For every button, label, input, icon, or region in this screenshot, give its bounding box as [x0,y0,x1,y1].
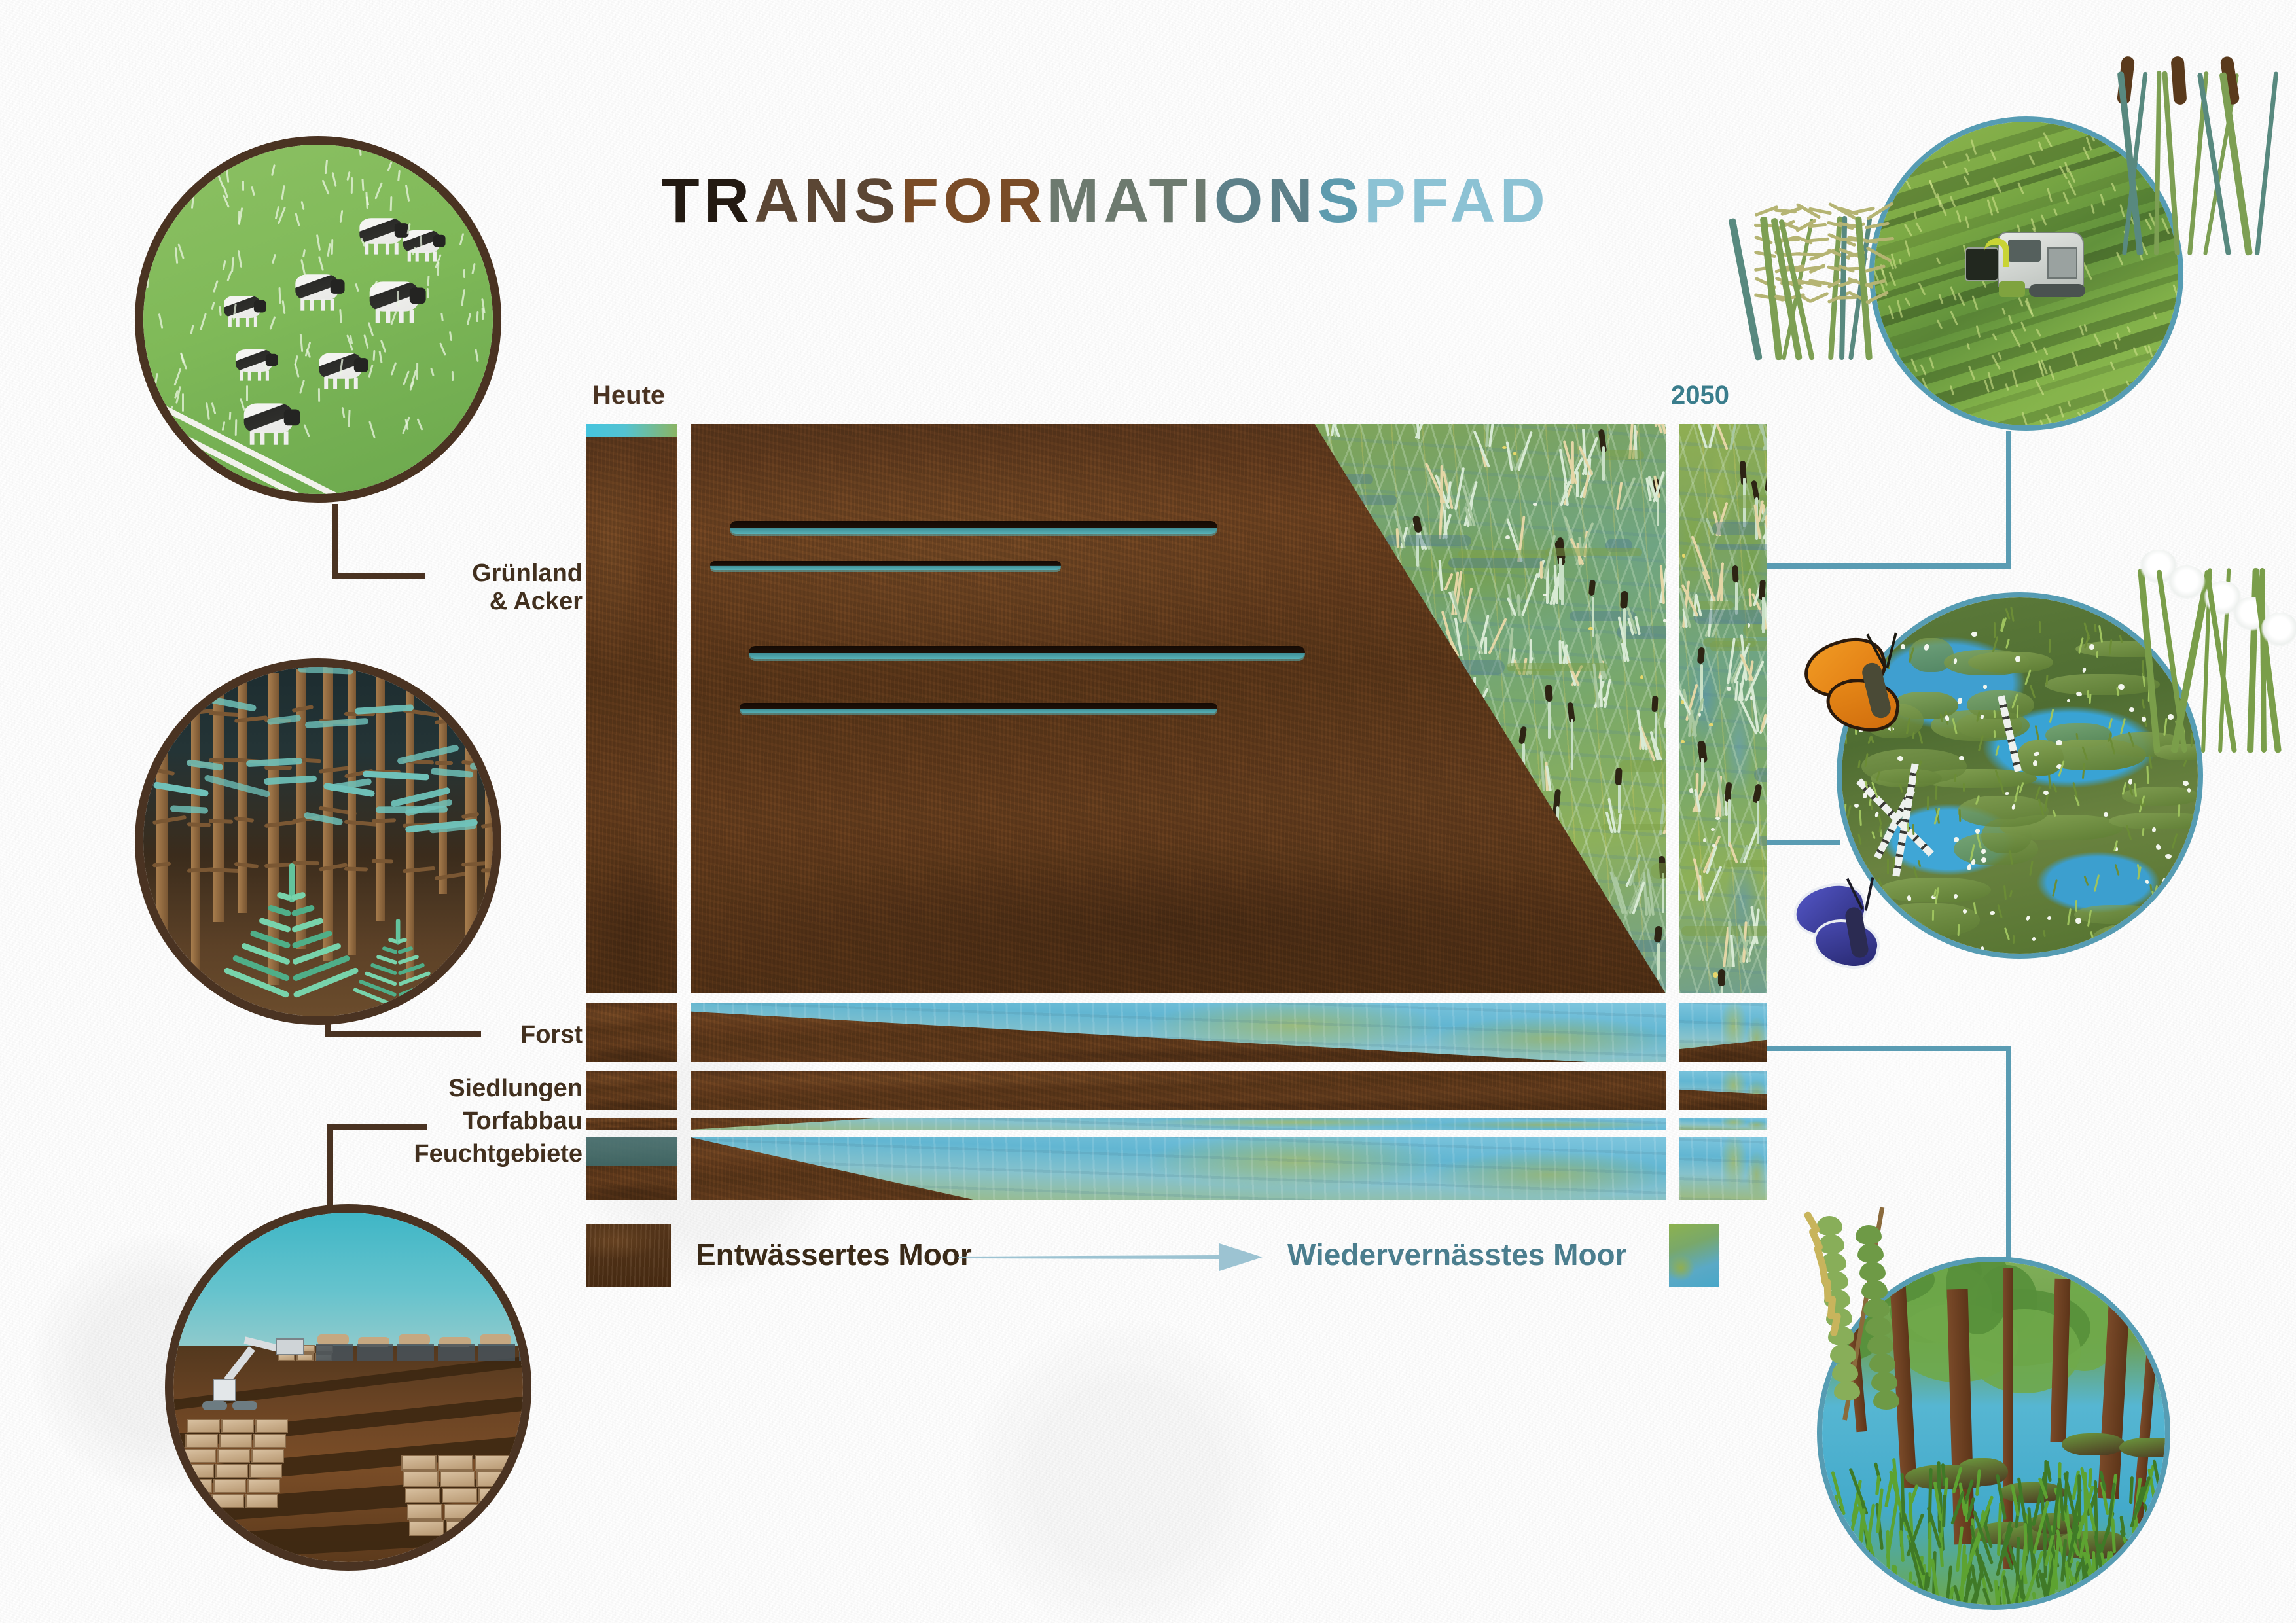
peat-brick [247,1479,280,1493]
peat-brick [442,1488,477,1503]
callout-gruenland-image [135,136,501,503]
peat-brick [409,1520,444,1536]
chart-cell-siedlungen-main [691,1071,1666,1110]
cow-icon [244,403,293,433]
row-label-torfabbau: Torfabbau [242,1107,583,1135]
peat-brick [213,1479,246,1493]
blue-butterfly-icon [1793,870,1944,995]
connector-torfabbau-horizontal [327,1124,427,1130]
tree-trunk [439,661,447,895]
peat-brick [253,1434,286,1448]
title-segment-1: ANS [754,166,901,236]
connector-bruchwald-vertical [2006,1046,2011,1262]
connector-gruenland-horizontal [332,573,425,579]
axis-label-end: 2050 [1671,381,1729,410]
row-label-siedlungen: Siedlungen [242,1075,583,1103]
tree-trunk [348,664,356,955]
peat-brick [478,1488,514,1503]
peat-brick [476,1471,512,1487]
peat-brick [185,1434,218,1448]
title-segment-0: TR [661,166,754,236]
copper-butterfly-icon [1804,628,1967,759]
chart-cell-gruenland-today [586,424,677,993]
page-title: TRANSFORMATIONSPFAD [661,165,1550,237]
chart-cell-feucht-today [586,1137,677,1200]
callout-torfabbau-image [165,1204,531,1571]
chart-cell-forst-2050 [1679,1003,1767,1062]
connector-bruchwald-horizontal [1767,1046,2011,1051]
cottongrass-plant-icon [2147,543,2291,753]
peat-brick [480,1504,516,1520]
row-label-gruenland: Grünland & Acker [275,560,583,615]
transformation-chart [586,424,1767,1200]
peat-brick [401,1455,437,1471]
legend-swatch-drained [586,1224,671,1287]
connector-paludikultur-vertical [2006,431,2011,567]
peat-brick [181,1464,214,1478]
alder-branch-icon [1767,1204,1918,1420]
reed-plant-icon [1754,196,1872,360]
title-segment-2: FOR [901,166,1047,236]
tree-trunk [323,664,333,961]
peat-brick [255,1419,288,1433]
cow-icon [224,296,260,318]
peat-brick [217,1449,250,1463]
connector-forst-horizontal [325,1031,481,1037]
title-segment-6: PFAD [1364,166,1550,236]
legend-label-drained: Entwässertes Moor [696,1237,972,1272]
title-segment-5: S [1318,166,1364,236]
peat-brick [446,1520,481,1536]
tree-trunk [156,663,168,960]
callout-forst-image [135,658,501,1025]
peat-brick [183,1449,216,1463]
peat-brick [219,1434,252,1448]
chart-cell-forst-today [586,1003,677,1062]
chart-cell-siedlungen-today [586,1071,677,1110]
legend-swatch-rewetted [1669,1224,1719,1287]
peat-brick [440,1471,475,1487]
title-segment-4: ON [1214,166,1318,236]
chart-cell-siedlungen-2050 [1679,1071,1767,1110]
legend-arrow-icon [958,1250,1265,1264]
row-label-feuchtgebiete: Feuchtgebiete [216,1140,583,1168]
peat-brick [187,1419,220,1433]
cow-icon [370,281,419,311]
chart-cell-torfabbau-today [586,1118,677,1130]
connector-gruenland-vertical [332,504,338,579]
connector-torfabbau-vertical [327,1124,333,1208]
axis-label-start: Heute [592,381,665,410]
peat-brick [405,1488,440,1503]
chart-cell-forst-main [691,1003,1666,1062]
peat-brick [245,1494,278,1508]
legend-label-rewetted: Wiedervernässtes Moor [1287,1237,1627,1272]
peat-brick [251,1449,284,1463]
cow-icon [295,274,338,300]
tree-trunk [213,670,224,923]
peat-brick [179,1479,212,1493]
legend: Entwässertes Moor Wiedervernässtes Moor [586,1219,1757,1291]
peat-brick [438,1455,473,1471]
peat-brick [177,1494,210,1508]
peat-brick [215,1464,248,1478]
peat-brick [475,1455,510,1471]
peat-brick [403,1471,439,1487]
chart-cell-torfabbau-main [691,1118,1666,1130]
peat-brick [482,1520,518,1536]
chart-cell-feucht-main [691,1137,1666,1200]
chart-cell-torfabbau-2050 [1679,1118,1767,1130]
chart-cell-gruenland-main [691,424,1666,993]
tree-trunk [191,679,200,974]
cow-icon [359,218,402,244]
title-segment-3: MATI [1047,166,1213,236]
peat-brick [407,1504,442,1520]
chart-cell-feucht-2050 [1679,1137,1767,1200]
chart-cell-gruenland-2050 [1679,424,1767,993]
peat-brick [249,1464,282,1478]
connector-paludikultur-horizontal [1767,563,2011,569]
peat-brick [221,1419,254,1433]
cattail-plant-icon [2114,46,2271,255]
connector-bog-horizontal [1767,840,1840,845]
peat-brick [444,1504,479,1520]
peat-brick [211,1494,244,1508]
